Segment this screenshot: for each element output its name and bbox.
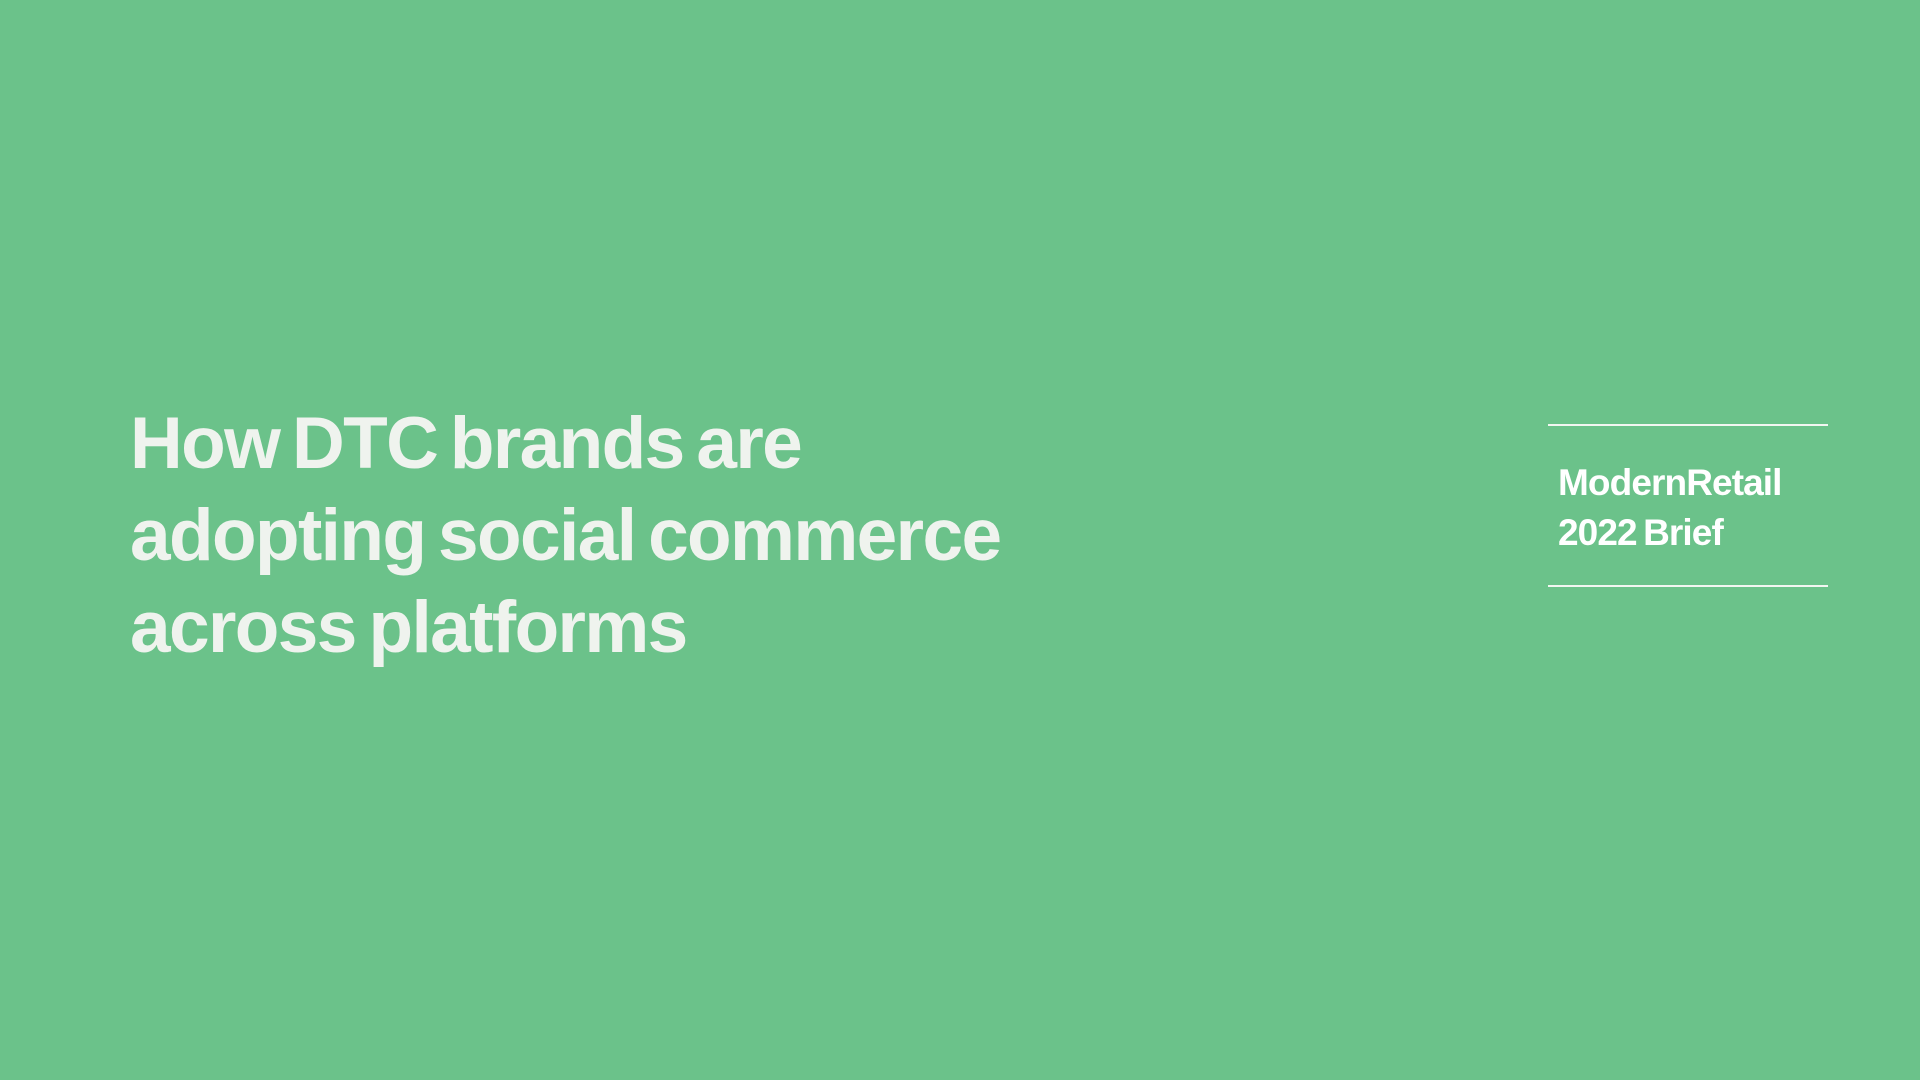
label-rule-bottom (1548, 585, 1828, 587)
publication-label-block: ModernRetail 2022 Brief (1548, 424, 1828, 587)
label-spacer-top (1548, 426, 1828, 458)
publication-label: ModernRetail 2022 Brief (1548, 458, 1828, 558)
label-spacer-bottom (1548, 558, 1828, 585)
title-slide: How DTC brands are adopting social comme… (0, 0, 1920, 1080)
page-title: How DTC brands are adopting social comme… (130, 398, 1130, 674)
